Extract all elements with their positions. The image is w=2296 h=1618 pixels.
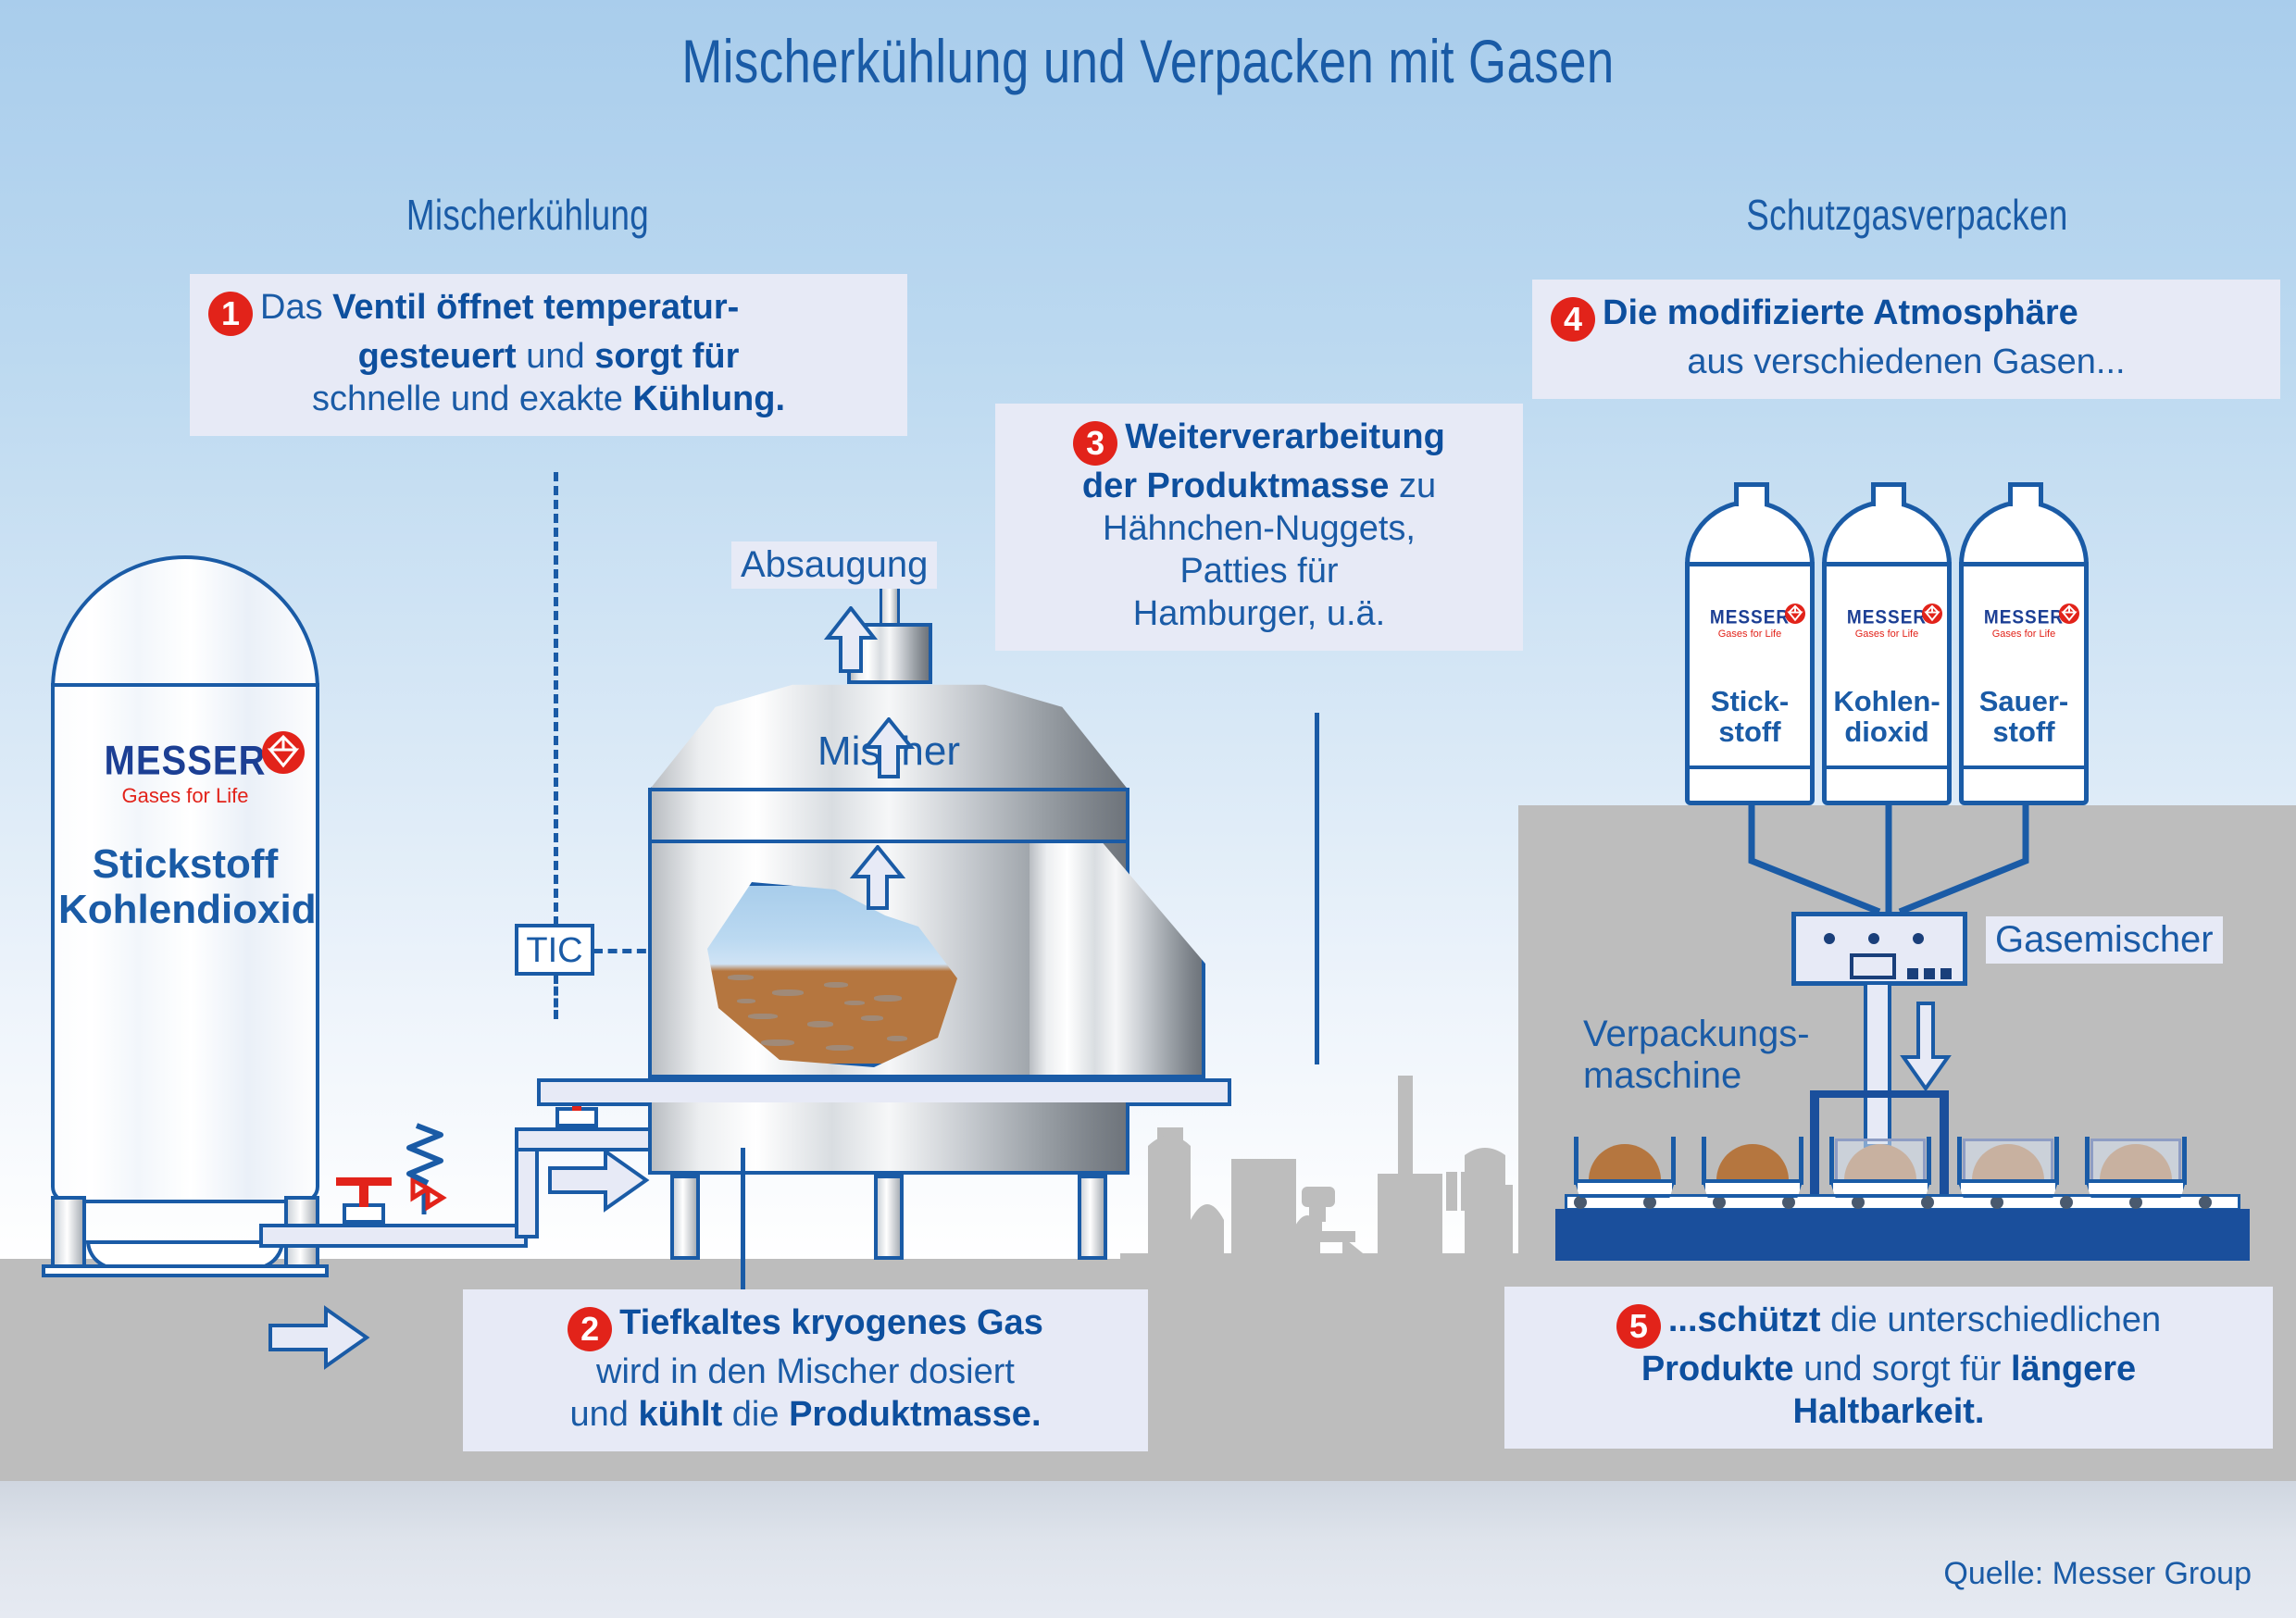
callout-4-text-b: aus verschiedenen Gasen... xyxy=(1551,342,2262,384)
tank-gas-line-2: Kohlendioxid xyxy=(58,887,312,932)
callout-5-text-e: längere xyxy=(2011,1350,2136,1388)
mixer-vessel: Mischer xyxy=(648,680,1129,1259)
cylinder-label-1: Stick- stoff xyxy=(1690,686,1810,748)
cylinder-logo-3: MESSER Gases for Life xyxy=(1964,608,2084,641)
messer-tagline: Gases for Life xyxy=(79,784,292,808)
flow-arrow-pipe xyxy=(548,1148,650,1213)
messer-wordmark: MESSER xyxy=(105,738,267,784)
sealing-film xyxy=(1835,1139,1926,1183)
callout-3-text-d: Hähnchen-Nuggets, xyxy=(1014,508,1504,551)
conveyor-roller xyxy=(1782,1196,1795,1209)
cylinder-name-line-1: Sauer- xyxy=(1964,686,2084,716)
callout-3-text-b: der Produktmasse xyxy=(1082,467,1390,505)
mixer-dome-flow-arrow xyxy=(863,717,915,778)
cylinder-foot-seam xyxy=(1959,765,2089,769)
gas-mixer-key-2 xyxy=(1924,968,1935,979)
conveyor-roller xyxy=(1574,1196,1587,1209)
cylinder-tagline: Gases for Life xyxy=(1976,629,2072,640)
tic-signal-line-down xyxy=(554,975,558,1019)
callout-2-text-d: kühlt xyxy=(638,1395,722,1434)
callout-3-text-e: Patties für xyxy=(1014,551,1504,593)
tray-open xyxy=(1702,1146,1803,1198)
messer-logo: MESSER Gases for Life xyxy=(79,741,292,808)
flow-arrow-ground xyxy=(268,1305,370,1370)
indicator-dot-3 xyxy=(1913,933,1924,944)
callout-1-text-e: sorgt für xyxy=(594,337,739,376)
tic-controller[interactable]: TIC xyxy=(515,924,594,976)
indicator-dot-2 xyxy=(1868,933,1879,944)
callout-5-text-c: Produkte xyxy=(1641,1350,1794,1388)
callout-1-text-c: gesteuert xyxy=(358,337,517,376)
mixer-discharge-chute xyxy=(1029,840,1205,1078)
tank-labelling: MESSER Gases for Life Stickstoff Kohlend… xyxy=(58,741,312,933)
tank-base-rail xyxy=(42,1264,329,1277)
callout-5: 5...schützt die unterschiedlichen Produk… xyxy=(1504,1287,2273,1449)
callout-1-badge: 1 xyxy=(208,292,253,336)
section-title-left: Mischerkühlung xyxy=(239,190,817,240)
packaging-machine-hood xyxy=(1810,1090,1949,1098)
cylinder-logo-1: MESSER Gases for Life xyxy=(1690,608,1810,641)
cylinder-valve-icon xyxy=(1871,482,1906,506)
callout-3-badge: 3 xyxy=(1073,421,1117,466)
sealing-film xyxy=(1963,1139,2053,1183)
conveyor-roller xyxy=(1713,1196,1726,1209)
cylinder-seam xyxy=(1685,562,1815,566)
cylinder-logo-2: MESSER Gases for Life xyxy=(1827,608,1947,641)
indicator-dot-1 xyxy=(1824,933,1835,944)
gas-mixer-label: Gasemischer xyxy=(1986,916,2223,964)
callout-4-text-a: Die modifizierte Atmosphäre xyxy=(1603,293,2078,332)
extraction-arrow xyxy=(824,606,878,673)
messer-emblem-icon xyxy=(262,731,305,774)
callout-2-leader xyxy=(741,1148,745,1291)
packaging-machine-post-left xyxy=(1810,1090,1819,1197)
tank-leg-left xyxy=(51,1196,86,1268)
packaging-machine-post-right xyxy=(1940,1090,1949,1197)
packaging-machine-label-line-2: maschine xyxy=(1583,1055,1810,1097)
callout-5-text-d: und sorgt für xyxy=(1794,1350,2011,1388)
callout-4-badge: 4 xyxy=(1551,297,1595,342)
mixer-leg-1 xyxy=(670,1175,700,1260)
cylinder-wordmark: MESSER xyxy=(1984,607,2064,630)
gas-mixer-display xyxy=(1850,953,1896,979)
callout-2-text-c: und xyxy=(569,1395,638,1434)
conveyor-roller xyxy=(2199,1196,2212,1209)
product-patty xyxy=(1716,1144,1789,1181)
gas-mixer-key-1 xyxy=(1907,968,1918,979)
callout-1-text-b: Ventil öffnet temperatur- xyxy=(332,288,739,327)
cylinder-feed-lines xyxy=(1703,805,2037,921)
cryogenic-storage-tank: MESSER Gases for Life Stickstoff Kohlend… xyxy=(51,555,319,1236)
valve-handle-1 xyxy=(336,1177,392,1186)
cylinder-valve-icon xyxy=(1734,482,1769,506)
conveyor-roller xyxy=(1852,1196,1865,1209)
messer-emblem-icon xyxy=(1785,604,1805,624)
section-title-right: Schutzgasverpacken xyxy=(1574,190,2240,240)
gas-cylinder-oxygen: MESSER Gases for Life Sauer- stoff xyxy=(1959,500,2089,805)
cylinder-label-2: Kohlen- dioxid xyxy=(1827,686,1947,748)
floor-fade xyxy=(0,1481,2296,1618)
cylinder-name-line-2: stoff xyxy=(1964,716,2084,747)
cylinder-label-3: Sauer- stoff xyxy=(1964,686,2084,748)
callout-2-text-a: Tiefkaltes kryogenes Gas xyxy=(619,1303,1043,1342)
mixer-leg-3 xyxy=(1078,1175,1107,1260)
cylinder-name-line-2: dioxid xyxy=(1827,716,1947,747)
tic-signal-line-up xyxy=(554,472,558,926)
cylinder-valve-icon xyxy=(2008,482,2043,506)
callout-1-text-d: und xyxy=(517,337,595,376)
packaging-machine-label-line-1: Verpackungs- xyxy=(1583,1014,1810,1055)
callout-3-text-f: Hamburger, u.ä. xyxy=(1014,593,1504,636)
sealing-film xyxy=(2090,1139,2181,1183)
callout-5-text-a: ...schützt xyxy=(1668,1301,1821,1339)
cylinder-name-line-1: Stick- xyxy=(1690,686,1810,716)
callout-3-leader xyxy=(1315,713,1319,1064)
valve-stem-1 xyxy=(359,1183,368,1207)
callout-1-text-f: schnelle und exakte xyxy=(312,380,632,418)
gas-cylinder-nitrogen: MESSER Gases for Life Stick- stoff xyxy=(1685,500,1815,805)
conveyor-roller xyxy=(1990,1196,2003,1209)
tank-seam-line xyxy=(51,683,319,687)
gas-cylinder-carbon-dioxide: MESSER Gases for Life Kohlen- dioxid xyxy=(1822,500,1952,805)
conveyor-base xyxy=(1555,1209,2250,1261)
mixer-leg-2 xyxy=(874,1175,904,1260)
callout-2: 2Tiefkaltes kryogenes Gas wird in den Mi… xyxy=(463,1289,1148,1451)
page-title: Mischerkühlung und Verpacken mit Gasen xyxy=(230,26,2066,96)
callout-2-text-b: wird in den Mischer dosiert xyxy=(481,1351,1129,1394)
gas-mixer-key-3 xyxy=(1940,968,1952,979)
mixer-lower-shell xyxy=(648,1102,1129,1175)
conveyor-roller xyxy=(1921,1196,1934,1209)
tank-gas-names: Stickstoff Kohlendioxid xyxy=(58,841,312,933)
callout-3-text-c: zu xyxy=(1389,467,1436,505)
tray-sealed xyxy=(1957,1146,2059,1198)
conveyor-roller xyxy=(2060,1196,2073,1209)
cylinder-wordmark: MESSER xyxy=(1847,607,1927,630)
callout-5-text-b: die unterschiedlichen xyxy=(1821,1301,2162,1339)
cylinder-tagline: Gases for Life xyxy=(1702,629,1798,640)
tray-sealed xyxy=(2085,1146,2187,1198)
gas-fill-arrow xyxy=(1900,1002,1952,1090)
conveyor-roller xyxy=(1643,1196,1656,1209)
callout-2-badge: 2 xyxy=(568,1307,612,1351)
callout-2-text-e: die xyxy=(722,1395,789,1434)
callout-4: 4Die modifizierte Atmosphäre aus verschi… xyxy=(1532,280,2280,399)
cylinder-seam xyxy=(1822,562,1952,566)
callout-5-badge: 5 xyxy=(1616,1304,1661,1349)
callout-3: 3Weiterverarbeitung der Produktmasse zu … xyxy=(995,404,1523,651)
packaging-machine-label: Verpackungs- maschine xyxy=(1583,1014,1810,1097)
callout-1-text-a: Das xyxy=(260,288,332,327)
product-patty xyxy=(1589,1144,1661,1181)
cylinder-tagline: Gases for Life xyxy=(1839,629,1935,640)
cylinder-seam xyxy=(1959,562,2089,566)
callout-2-text-f: Produktmasse. xyxy=(789,1395,1041,1434)
mixer-internal-flow-arrow xyxy=(850,845,905,910)
cylinder-foot-seam xyxy=(1685,765,1815,769)
conveyor-roller xyxy=(2129,1196,2142,1209)
messer-emblem-icon xyxy=(2059,604,2079,624)
mixer-collar xyxy=(648,788,1129,843)
tray-sealed xyxy=(1829,1146,1931,1198)
cylinder-name-line-1: Kohlen- xyxy=(1827,686,1947,716)
cylinder-wordmark: MESSER xyxy=(1710,607,1790,630)
cylinder-name-line-2: stoff xyxy=(1690,716,1810,747)
gas-mixer-unit[interactable] xyxy=(1791,912,1967,986)
callout-1: 1Das Ventil öffnet temperatur- gesteuert… xyxy=(190,274,907,436)
messer-emblem-icon xyxy=(1922,604,1942,624)
relief-valve-icon xyxy=(396,1122,498,1228)
gas-supply-downpipe xyxy=(1864,981,1891,1148)
extraction-label: Absaugung xyxy=(731,541,937,589)
callout-1-text-g: Kühlung. xyxy=(632,380,785,418)
tray-open xyxy=(1574,1146,1676,1198)
source-note: Quelle: Messer Group xyxy=(1943,1556,2252,1592)
callout-5-text-f: Haltbarkeit. xyxy=(1793,1392,1985,1431)
cylinder-foot-seam xyxy=(1822,765,1952,769)
tank-gas-line-1: Stickstoff xyxy=(58,841,312,887)
callout-3-text-a: Weiterverarbeitung xyxy=(1125,417,1445,456)
diagram-canvas: Mischerkühlung und Verpacken mit Gasen M… xyxy=(0,0,2296,1618)
